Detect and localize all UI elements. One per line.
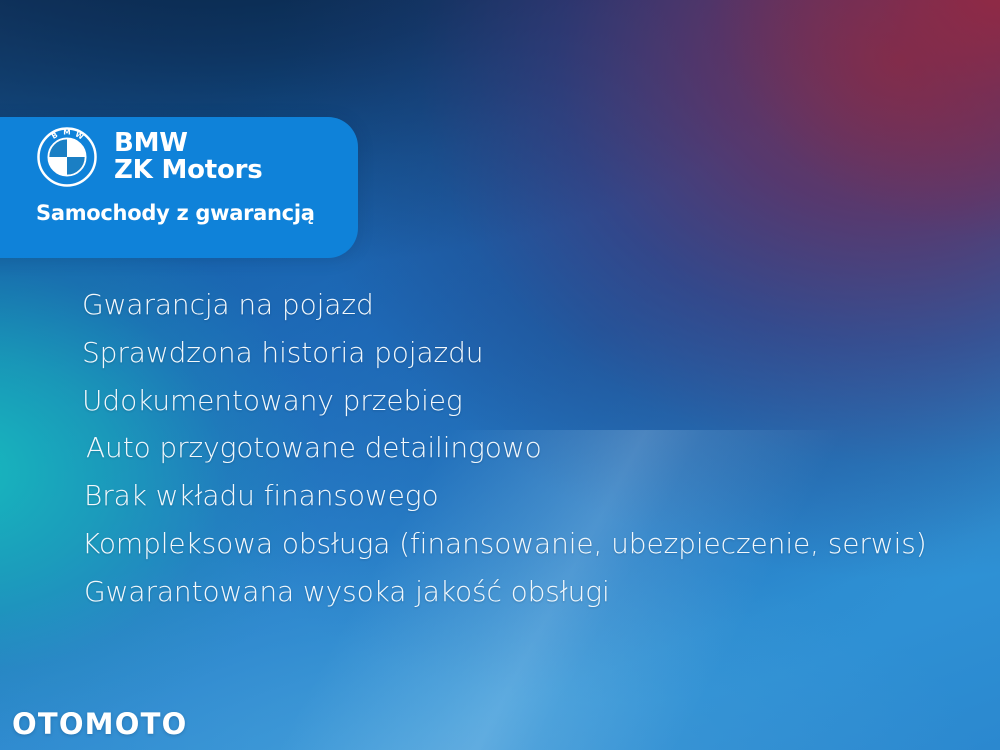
- svg-text:M: M: [63, 128, 70, 137]
- dealer-brand-name: BMW ZK Motors: [114, 130, 263, 184]
- list-item: Sprawdzona historia pojazdu: [0, 329, 960, 377]
- dealer-card-content: B M W BMW ZK Motors Samochody z gwarancj…: [0, 117, 358, 258]
- list-item: Gwarantowana wysoka jakość obsługi: [0, 568, 960, 616]
- svg-text:B: B: [50, 130, 60, 141]
- list-item: Gwarancja na pojazd: [0, 281, 960, 329]
- list-item: Kompleksowa obsługa (finansowanie, ubezp…: [0, 520, 960, 568]
- list-item: Udokumentowany przebieg: [0, 377, 960, 425]
- list-item: Auto przygotowane detailingowo: [0, 424, 960, 472]
- dealer-card: B M W BMW ZK Motors Samochody z gwarancj…: [0, 117, 358, 258]
- brand-line-1: BMW: [114, 130, 263, 157]
- dealer-logo-row: B M W BMW ZK Motors: [36, 126, 263, 188]
- benefits-list: Gwarancja na pojazd Sprawdzona historia …: [0, 281, 960, 616]
- otomoto-watermark: OTOMOTO: [12, 707, 187, 741]
- list-item: Brak wkładu finansowego: [0, 472, 960, 520]
- bmw-roundel-icon: B M W: [36, 126, 98, 188]
- promo-banner: B M W BMW ZK Motors Samochody z gwarancj…: [0, 0, 1000, 750]
- dealer-tagline: Samochody z gwarancją: [36, 201, 315, 225]
- brand-line-2: ZK Motors: [114, 157, 263, 184]
